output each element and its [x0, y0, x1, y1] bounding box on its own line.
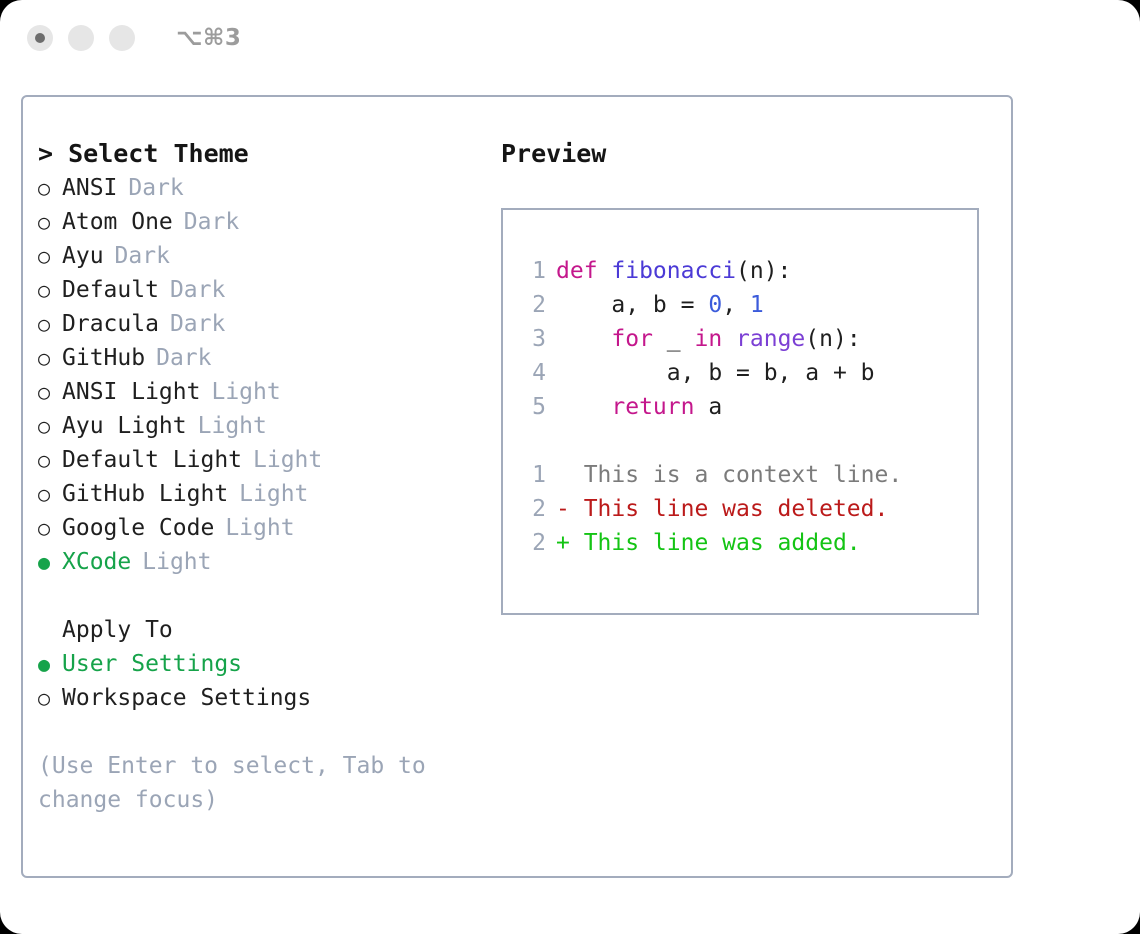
- apply-to-heading: Apply To: [38, 613, 478, 647]
- code-token: - This line was deleted.: [556, 496, 888, 522]
- preview-heading: Preview: [501, 137, 1001, 171]
- radio-unselected-icon: ○: [38, 375, 62, 409]
- code-token: for: [611, 326, 653, 352]
- code-token: This is a context line.: [556, 462, 902, 488]
- theme-option-ayu-light[interactable]: ○Ayu LightLight: [38, 409, 478, 443]
- code-line: 2 a, b = 0, 1: [503, 288, 977, 322]
- radio-unselected-icon: ○: [38, 239, 62, 273]
- theme-option-kind: Light: [239, 477, 308, 511]
- theme-option-label: GitHub: [62, 341, 145, 375]
- code-line: 4 a, b = b, a + b: [503, 356, 977, 390]
- code-line-text: def fibonacci(n):: [556, 254, 791, 288]
- code-token: def: [556, 258, 611, 284]
- window-dot-1[interactable]: [27, 25, 53, 51]
- theme-option-label: Default: [62, 273, 159, 307]
- theme-option-label: Ayu Light: [62, 409, 187, 443]
- apply-to-option-label: Workspace Settings: [62, 681, 311, 715]
- line-number: 1: [520, 458, 546, 492]
- line-number: 2: [520, 526, 546, 560]
- apply-to-option-label: User Settings: [62, 647, 242, 681]
- code-line-text: a, b = 0, 1: [556, 288, 764, 322]
- code-token: ,: [722, 292, 750, 318]
- theme-option-label: ANSI: [62, 171, 117, 205]
- code-line: 1def fibonacci(n):: [503, 254, 977, 288]
- code-token: (n):: [805, 326, 860, 352]
- code-token: + This line was added.: [556, 530, 861, 556]
- radio-unselected-icon: ○: [38, 205, 62, 239]
- theme-option-default-light[interactable]: ○Default LightLight: [38, 443, 478, 477]
- line-number: 2: [520, 492, 546, 526]
- titlebar: ⌥⌘3: [0, 0, 1140, 76]
- radio-unselected-icon: ○: [38, 341, 62, 375]
- line-number: 2: [520, 288, 546, 322]
- theme-option-label: Default Light: [62, 443, 242, 477]
- code-token: a, b =: [556, 292, 708, 318]
- radio-selected-icon: ●: [38, 545, 62, 579]
- diff-line-text: + This line was added.: [556, 526, 861, 560]
- theme-list[interactable]: ○ANSIDark○Atom OneDark○AyuDark○DefaultDa…: [38, 171, 478, 579]
- theme-option-kind: Light: [253, 443, 322, 477]
- window-dot-2[interactable]: [68, 25, 94, 51]
- app-window: ⌥⌘3 > Select Theme ○ANSIDark○Atom OneDar…: [0, 0, 1140, 934]
- code-token: 1: [750, 292, 764, 318]
- code-line: 3 for _ in range(n):: [503, 322, 977, 356]
- code-token: [556, 326, 611, 352]
- theme-option-xcode[interactable]: ●XCodeLight: [38, 545, 478, 579]
- diff-line: 2+ This line was added.: [503, 526, 977, 560]
- diff-line-text: - This line was deleted.: [556, 492, 888, 526]
- radio-unselected-icon: ○: [38, 681, 62, 715]
- code-token: 0: [708, 292, 722, 318]
- radio-unselected-icon: ○: [38, 477, 62, 511]
- window-dot-1-indicator: [35, 33, 45, 43]
- main-panel: > Select Theme ○ANSIDark○Atom OneDark○Ay…: [21, 95, 1013, 878]
- theme-option-ansi-light[interactable]: ○ANSI LightLight: [38, 375, 478, 409]
- theme-option-kind: Light: [142, 545, 211, 579]
- radio-unselected-icon: ○: [38, 171, 62, 205]
- theme-option-atom-one[interactable]: ○Atom OneDark: [38, 205, 478, 239]
- theme-option-label: Google Code: [62, 511, 214, 545]
- theme-column: > Select Theme ○ANSIDark○Atom OneDark○Ay…: [38, 137, 478, 817]
- code-line-text: for _ in range(n):: [556, 322, 861, 356]
- theme-option-ayu[interactable]: ○AyuDark: [38, 239, 478, 273]
- code-token: a: [694, 394, 722, 420]
- radio-unselected-icon: ○: [38, 409, 62, 443]
- theme-option-github[interactable]: ○GitHubDark: [38, 341, 478, 375]
- apply-to-option-workspace-settings[interactable]: ○Workspace Settings: [38, 681, 478, 715]
- code-line-text: return a: [556, 390, 722, 424]
- code-line: 5 return a: [503, 390, 977, 424]
- diff-line: 2- This line was deleted.: [503, 492, 977, 526]
- theme-option-kind: Light: [211, 375, 280, 409]
- preview-box: 1def fibonacci(n):2 a, b = 0, 13 for _ i…: [501, 208, 979, 615]
- line-number: 1: [520, 254, 546, 288]
- code-token: range: [736, 326, 805, 352]
- theme-option-kind: Dark: [170, 273, 225, 307]
- select-theme-heading: > Select Theme: [38, 137, 478, 171]
- diff-sample: 1 This is a context line.2- This line wa…: [503, 458, 977, 560]
- code-token: [556, 394, 611, 420]
- theme-option-kind: Light: [198, 409, 267, 443]
- code-token: [722, 326, 736, 352]
- theme-option-kind: Light: [225, 511, 294, 545]
- radio-unselected-icon: ○: [38, 307, 62, 341]
- code-token: _: [653, 326, 695, 352]
- theme-option-google-code[interactable]: ○Google CodeLight: [38, 511, 478, 545]
- theme-option-kind: Dark: [156, 341, 211, 375]
- code-sample: 1def fibonacci(n):2 a, b = 0, 13 for _ i…: [503, 254, 977, 424]
- theme-option-label: Dracula: [62, 307, 159, 341]
- keyboard-shortcut-label: ⌥⌘3: [176, 25, 241, 51]
- theme-option-ansi[interactable]: ○ANSIDark: [38, 171, 478, 205]
- line-number: 5: [520, 390, 546, 424]
- apply-to-list[interactable]: ●User Settings○Workspace Settings: [38, 647, 478, 715]
- theme-option-label: ANSI Light: [62, 375, 200, 409]
- code-token: fibonacci: [611, 258, 736, 284]
- diff-line-text: This is a context line.: [556, 458, 902, 492]
- code-token: in: [694, 326, 722, 352]
- theme-option-label: Atom One: [62, 205, 173, 239]
- radio-unselected-icon: ○: [38, 511, 62, 545]
- theme-option-label: Ayu: [62, 239, 104, 273]
- line-number: 4: [520, 356, 546, 390]
- theme-option-label: XCode: [62, 545, 131, 579]
- code-token: (n):: [736, 258, 791, 284]
- radio-unselected-icon: ○: [38, 443, 62, 477]
- theme-option-kind: Dark: [128, 171, 183, 205]
- theme-option-kind: Dark: [170, 307, 225, 341]
- diff-line: 1 This is a context line.: [503, 458, 977, 492]
- theme-option-label: GitHub Light: [62, 477, 228, 511]
- keyboard-hint-text: (Use Enter to select, Tab to change focu…: [38, 749, 448, 817]
- theme-option-kind: Dark: [115, 239, 170, 273]
- theme-option-dracula[interactable]: ○DraculaDark: [38, 307, 478, 341]
- code-token: return: [611, 394, 694, 420]
- theme-option-github-light[interactable]: ○GitHub LightLight: [38, 477, 478, 511]
- theme-option-kind: Dark: [184, 205, 239, 239]
- preview-column: Preview 1def fibonacci(n):2 a, b = 0, 13…: [501, 137, 1001, 615]
- theme-option-default[interactable]: ○DefaultDark: [38, 273, 478, 307]
- code-spacer: [503, 424, 977, 458]
- code-line-text: a, b = b, a + b: [556, 356, 875, 390]
- window-dot-3[interactable]: [109, 25, 135, 51]
- radio-unselected-icon: ○: [38, 273, 62, 307]
- code-token: a, b = b, a + b: [556, 360, 875, 386]
- line-number: 3: [520, 322, 546, 356]
- apply-to-option-user-settings[interactable]: ●User Settings: [38, 647, 478, 681]
- radio-selected-icon: ●: [38, 647, 62, 681]
